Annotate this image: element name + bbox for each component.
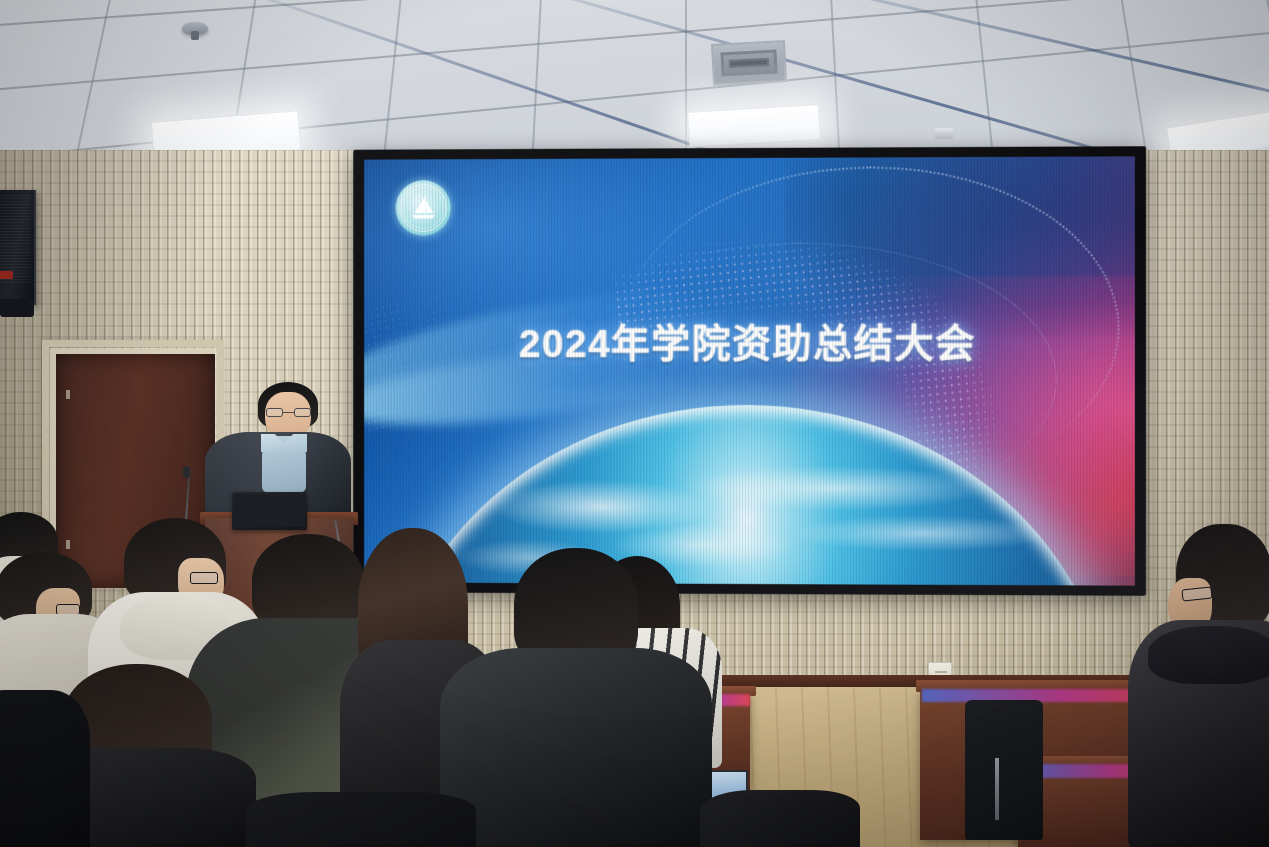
audience-7-body xyxy=(440,648,712,847)
earth-cloud-layer xyxy=(387,405,1111,586)
audience-11-body xyxy=(246,792,476,847)
ceiling-speaker-icon xyxy=(935,128,953,139)
audience-4-hair xyxy=(252,534,364,630)
presenter-laptop[interactable] xyxy=(232,492,307,530)
led-display-bezel: 2024年学院资助总结大会 xyxy=(353,146,1146,596)
slide-title: 2024年学院资助总结大会 xyxy=(364,313,1135,369)
speaker-grille xyxy=(0,193,31,283)
slide-earth-graphic xyxy=(387,405,1111,586)
audience-8-hood xyxy=(1148,626,1269,684)
sailboat-icon xyxy=(409,195,439,221)
audience-10-body xyxy=(0,690,90,847)
chair-lever xyxy=(995,758,999,820)
speaker-brand-badge xyxy=(0,271,13,279)
audience-12-body xyxy=(700,790,860,847)
speaker-bracket xyxy=(0,299,34,317)
smoke-detector-icon xyxy=(182,22,208,35)
office-chair-right[interactable] xyxy=(965,700,1043,840)
wall-mounted-speaker xyxy=(0,190,36,305)
audience-3-glasses-icon xyxy=(190,572,218,584)
microphone-head-icon xyxy=(183,466,190,478)
hvac-air-diffuser-icon xyxy=(711,40,787,86)
presenter-glasses-icon xyxy=(266,408,311,417)
conference-room-photo: 2024年学院资助总结大会 xyxy=(0,0,1269,847)
presentation-slide[interactable]: 2024年学院资助总结大会 xyxy=(364,156,1135,585)
